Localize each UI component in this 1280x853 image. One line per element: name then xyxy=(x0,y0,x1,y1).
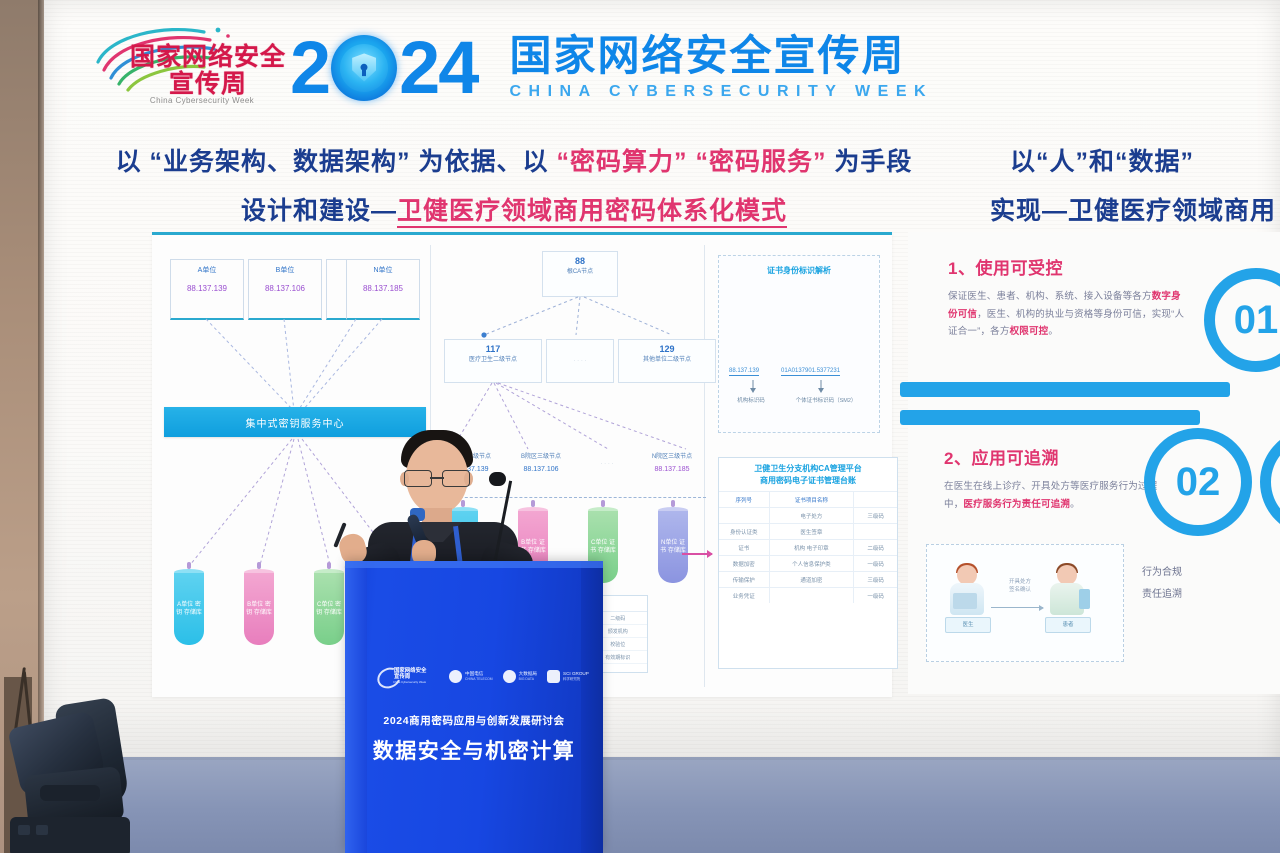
node-box: B单位 88.137.106 xyxy=(248,259,322,320)
table-row: 数据加密个人信息保护类一级码 xyxy=(719,555,897,571)
logo-chinese-name: 国家网络安全 宣传周 xyxy=(130,44,286,97)
left-title-line2: 设计和建设—卫健医疗领域商用密码体系化模式 xyxy=(100,191,928,227)
sponsor-logo: SCI GROUP科学研究院 xyxy=(547,670,589,683)
table-row: 证书机构 电子印章二级码 xyxy=(719,539,897,555)
section-2: 2、应用可追溯 在医生在线上诊疗、开具处方等医疗服务行为过程中，医疗服务行为责任… xyxy=(944,444,1174,513)
section-1: 1、使用可受控 保证医生、患者、机构、系统、接入设备等各方数字身份可信，医生、机… xyxy=(948,254,1188,341)
key-store-cylinder: B单位 密钥 存储库 xyxy=(244,569,274,645)
laptop-icon xyxy=(953,593,977,609)
node-box: A单位 88.137.139 xyxy=(170,259,244,320)
ca-second-node-ellipsis: · · · · xyxy=(546,339,614,383)
stage-light-rig xyxy=(0,667,176,853)
right-title-line1: 以“人”和“数据” xyxy=(1010,142,1280,178)
badge-03-partial xyxy=(1260,428,1280,536)
identity-resolution-panel: 证书身份标识解析 88.137.139 01A0137901.5377231 机… xyxy=(718,255,880,433)
sponsor-logo: 中国电信CHINA TELECOM xyxy=(449,670,493,683)
section-2-body: 在医生在线上诊疗、开具处方等医疗服务行为过程中，医疗服务行为责任可追溯。 xyxy=(944,478,1174,513)
right-title-line2: 实现—卫健医疗领域商用 xyxy=(990,191,1280,227)
sponsor-mark-icon xyxy=(547,670,560,683)
base-detail xyxy=(18,825,30,835)
base-detail xyxy=(36,825,48,835)
leaf-node-ellipsis: · · · · xyxy=(580,461,634,467)
table-row: 身份认证类医生签章 xyxy=(719,523,897,539)
podium-subtitle: 2024商用密码应用与创新发展研讨会 xyxy=(345,713,603,728)
logo-english-name: China Cybersecurity Week xyxy=(132,96,272,105)
year-2024: 2 24 xyxy=(290,31,477,105)
flow-arrow xyxy=(682,553,712,555)
glasses-icon xyxy=(404,470,470,485)
badge-01: 01 xyxy=(1204,268,1280,372)
ca-root-node: 88 根CA节点 xyxy=(542,251,618,297)
right-slide-content: 1、使用可受控 保证医生、患者、机构、系统、接入设备等各方数字身份可信，医生、机… xyxy=(908,232,1280,694)
flow-arrow xyxy=(991,607,1043,608)
badge-02: 02 xyxy=(1144,428,1252,536)
event-header: 国家网络安全 宣传周 China Cybersecurity Week 2 24… xyxy=(86,18,906,118)
cybersecurity-week-small-logo: 国家网络安全 宣传周 China Cybersecurity Week xyxy=(377,665,439,687)
leaf-node: N院区三级节点 88.137.185 xyxy=(640,451,704,473)
node-box: N单位 88.137.185 xyxy=(346,259,420,320)
section-1-heading: 1、使用可受控 xyxy=(948,254,1188,279)
table-row: 传输保护通道加密三级码 xyxy=(719,571,897,587)
caption-arrows xyxy=(729,380,869,394)
sponsor-mark-icon xyxy=(449,670,462,683)
stage-floor xyxy=(0,757,1280,853)
divider-bar xyxy=(900,410,1200,425)
hex-left: 88.137.139 xyxy=(729,368,759,376)
podium-sponsor-logos: 国家网络安全 宣传周 China Cybersecurity Week 中国电信… xyxy=(377,665,571,687)
table-row: 电子处方三级码 xyxy=(719,507,897,523)
podium: 国家网络安全 宣传周 China Cybersecurity Week 中国电信… xyxy=(345,561,603,853)
phone-icon xyxy=(1079,589,1090,609)
cert-store-cylinder: N单位 证书 存储库 xyxy=(658,507,688,583)
section-1-body: 保证医生、患者、机构、系统、接入设备等各方数字身份可信，医生、机构的执业与资格等… xyxy=(948,288,1188,341)
podium-title-block: 2024商用密码应用与创新发展研讨会 数据安全与机密计算 xyxy=(345,713,603,765)
key-store-cylinder: C单位 密钥 存储库 xyxy=(314,569,344,645)
ca-second-node: 129 其他单位二级节点 xyxy=(618,339,716,383)
hex-right: 01A0137901.5377231 xyxy=(781,368,840,376)
sponsor-logo: 大数据局BIG DATA xyxy=(503,670,537,683)
mic-stand-head xyxy=(489,472,506,486)
tree-connectors-top xyxy=(442,295,704,341)
key-store-cylinder: A单位 密钥 存储库 xyxy=(174,569,204,645)
podium-main-title: 数据安全与机密计算 xyxy=(345,735,603,765)
outcome-tags: 行为合规 责任追溯 xyxy=(1142,562,1182,606)
left-title-line1: 以 “业务架构、数据架构” 为依据、以 “密码算力” “密码服务” 为手段 xyxy=(100,142,928,178)
divider-bar xyxy=(900,382,1230,397)
ca-second-node: 117 医疗卫生二级节点 xyxy=(444,339,542,383)
table-row: 业务凭证一级码 xyxy=(719,587,897,603)
section-2-heading: 2、应用可追溯 xyxy=(944,444,1174,469)
header-title-en: CHINA CYBERSECURITY WEEK xyxy=(509,83,933,101)
left-slide-title: 以 “业务架构、数据架构” 为依据、以 “密码算力” “密码服务” 为手段 设计… xyxy=(100,142,928,227)
light-base xyxy=(10,817,130,853)
table-header-row: 序列号 证书项目名称 xyxy=(719,491,897,507)
shield-lock-icon xyxy=(331,35,397,101)
header-title-block: 国家网络安全宣传周 CHINA CYBERSECURITY WEEK xyxy=(509,35,933,101)
table-title: 卫健卫生分支机构CA管理平台 商用密码电子证书管理台账 xyxy=(719,458,897,491)
connector-lines xyxy=(152,315,430,415)
flow-caption: 开具处方 签名确认 xyxy=(993,579,1047,594)
conference-photo-scene: 国家网络安全 宣传周 China Cybersecurity Week 2 24… xyxy=(0,0,1280,853)
header-title-cn: 国家网络安全宣传周 xyxy=(509,35,933,77)
right-slide-title: 以“人”和“数据” 实现—卫健医疗领域商用 xyxy=(1010,142,1280,227)
certificate-ledger-table: 卫健卫生分支机构CA管理平台 商用密码电子证书管理台账 序列号 证书项目名称 电… xyxy=(718,457,898,669)
cybersecurity-week-logo: 国家网络安全 宣传周 China Cybersecurity Week xyxy=(86,22,272,114)
traceability-illustration: 医生 患者 开具处方 签名确认 xyxy=(926,544,1124,662)
sponsor-mark-icon xyxy=(503,670,516,683)
light-yoke xyxy=(40,785,100,801)
